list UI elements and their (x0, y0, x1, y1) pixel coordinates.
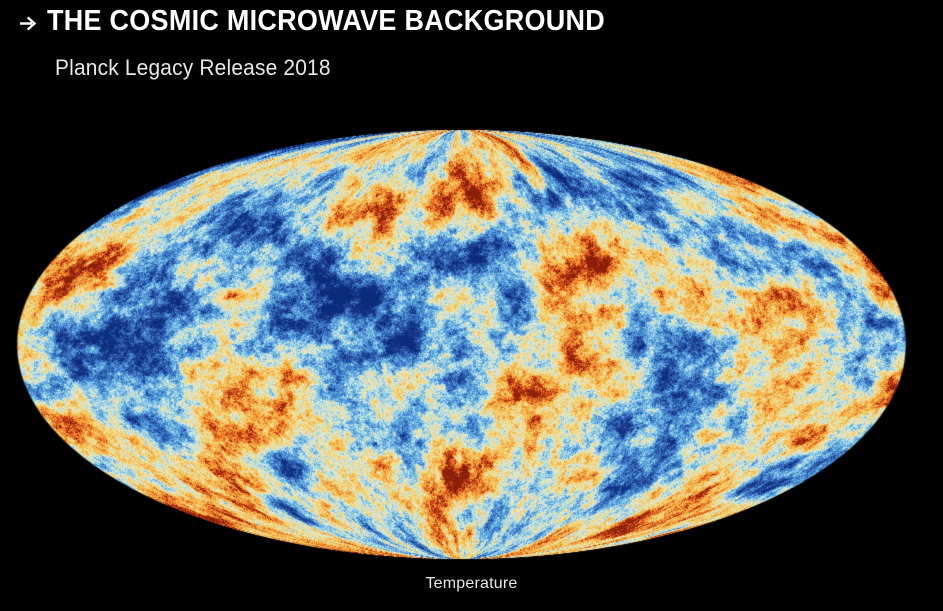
page-title: THE COSMIC MICROWAVE BACKGROUND (47, 7, 605, 36)
arrow-right-icon (18, 12, 38, 34)
cmb-sky-map (15, 128, 907, 560)
cmb-mollweide-canvas (15, 128, 907, 560)
cmb-figure: THE COSMIC MICROWAVE BACKGROUND Planck L… (0, 0, 943, 611)
map-caption: Temperature (0, 576, 943, 592)
page-subtitle: Planck Legacy Release 2018 (55, 57, 331, 79)
title-row: THE COSMIC MICROWAVE BACKGROUND (18, 7, 647, 36)
